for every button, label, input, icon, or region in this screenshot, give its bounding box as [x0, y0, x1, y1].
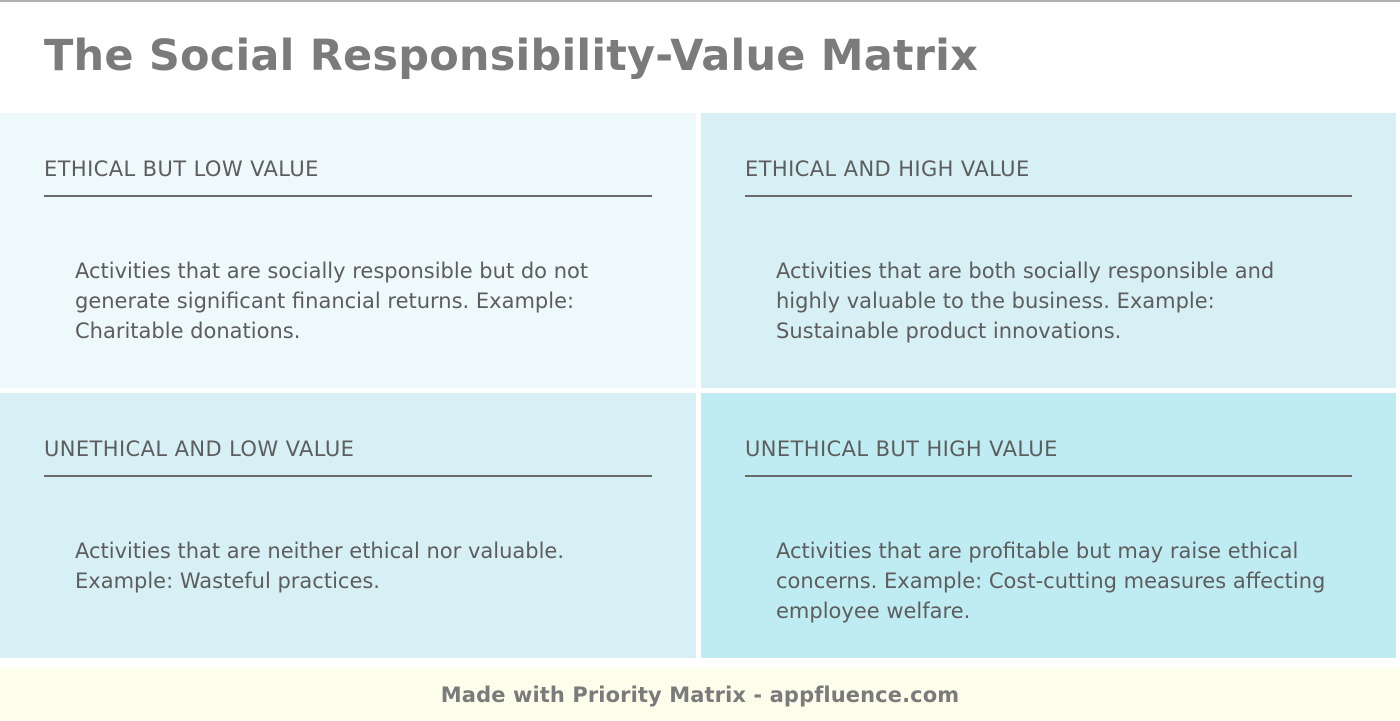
quadrant-title: UNETHICAL BUT HIGH VALUE — [745, 438, 1352, 477]
quadrant-matrix: ETHICAL BUT LOW VALUE Activities that ar… — [0, 113, 1400, 658]
footer-gap — [0, 658, 1400, 668]
quadrant-body: Activities that are neither ethical nor … — [75, 537, 635, 597]
footer-attribution[interactable]: Made with Priority Matrix - appfluence.c… — [441, 683, 959, 707]
quadrant-title: ETHICAL AND HIGH VALUE — [745, 158, 1352, 197]
quadrant-unethical-high-value[interactable]: UNETHICAL BUT HIGH VALUE Activities that… — [700, 392, 1400, 658]
quadrant-unethical-low-value[interactable]: UNETHICAL AND LOW VALUE Activities that … — [0, 392, 700, 658]
page-footer: Made with Priority Matrix - appfluence.c… — [0, 668, 1400, 721]
quadrant-title: UNETHICAL AND LOW VALUE — [44, 438, 652, 477]
quadrant-ethical-high-value[interactable]: ETHICAL AND HIGH VALUE Activities that a… — [700, 113, 1400, 392]
quadrant-ethical-low-value[interactable]: ETHICAL BUT LOW VALUE Activities that ar… — [0, 113, 700, 392]
top-border-rule — [0, 0, 1400, 2]
quadrant-body: Activities that are both socially respon… — [776, 257, 1336, 346]
quadrant-title: ETHICAL BUT LOW VALUE — [44, 158, 652, 197]
page-title: The Social Responsibility-Value Matrix — [44, 34, 978, 79]
matrix-page: The Social Responsibility-Value Matrix E… — [0, 0, 1400, 721]
quadrant-body: Activities that are socially responsible… — [75, 257, 635, 346]
quadrant-body: Activities that are profitable but may r… — [776, 537, 1336, 626]
page-header: The Social Responsibility-Value Matrix — [0, 0, 1400, 113]
